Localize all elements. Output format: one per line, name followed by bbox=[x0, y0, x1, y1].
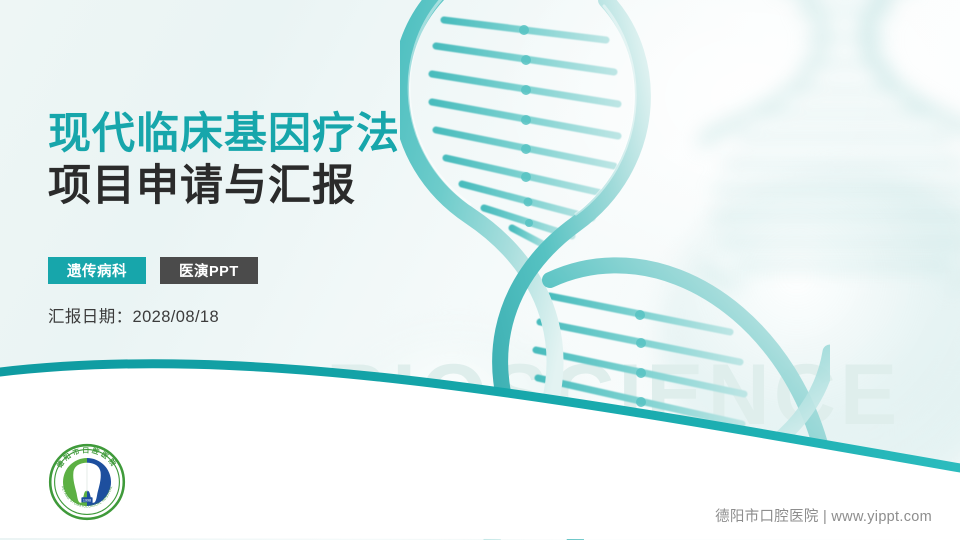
hospital-logo-icon: 1998 德阳市口腔医院 DEYANG STOMATOLOGICAL HOSPI… bbox=[47, 442, 127, 522]
report-date: 汇报日期：2028/08/18 bbox=[48, 303, 219, 327]
status-badge-source: 医演PPT bbox=[160, 257, 258, 284]
presentation-slide: BIOSCIENCE bbox=[0, 0, 960, 540]
slide-title: 现代临床基因疗法 项目申请与汇报 bbox=[48, 108, 528, 213]
badge-group: 遗传病科 医演PPT bbox=[48, 257, 258, 284]
logo-year-text: 1998 bbox=[83, 498, 91, 502]
title-primary-line: 现代临床基因疗法 bbox=[48, 108, 528, 160]
title-secondary-line: 项目申请与汇报 bbox=[48, 160, 528, 212]
footer-credit: 德阳市口腔医院 | www.yippt.com bbox=[715, 505, 932, 526]
status-badge-department: 遗传病科 bbox=[48, 257, 146, 284]
